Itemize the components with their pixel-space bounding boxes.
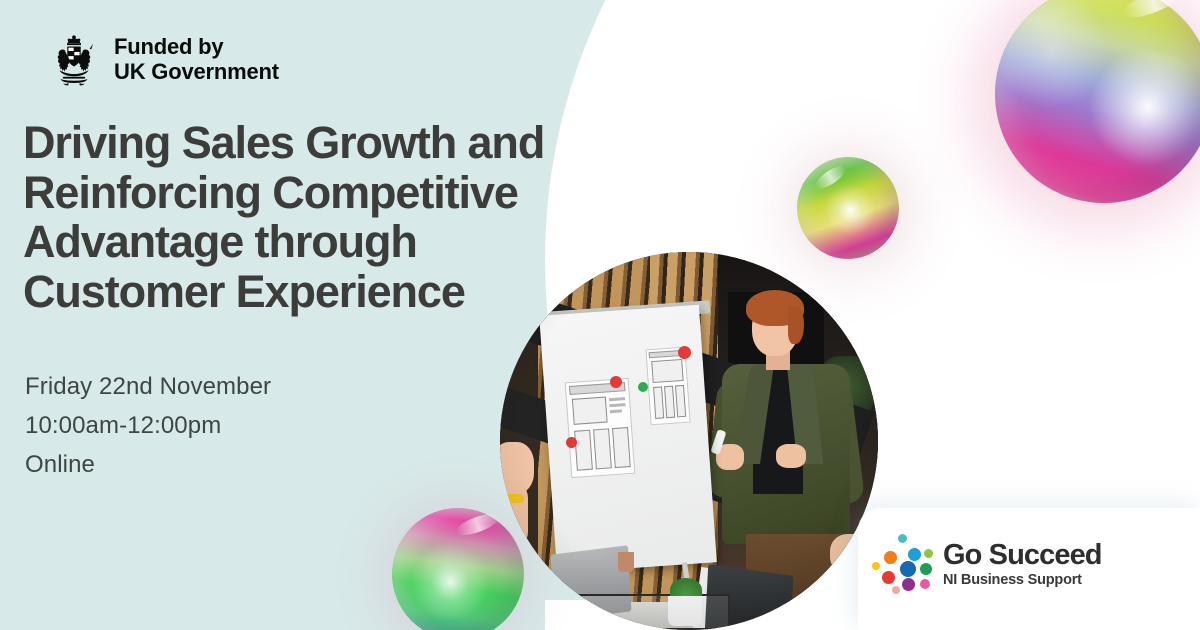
- event-details: Friday 22nd November 10:00am-12:00pm Onl…: [25, 368, 271, 485]
- dot-blue: [908, 548, 921, 561]
- dot-green: [920, 563, 932, 575]
- dot-blush: [892, 586, 900, 594]
- dot-lightgreen: [924, 549, 933, 558]
- brand-title: Go Succeed: [943, 541, 1102, 570]
- dot-darkblue: [900, 561, 916, 577]
- go-succeed-logo-card: Go Succeed NI Business Support: [858, 508, 1200, 630]
- brand-subtitle: NI Business Support: [943, 573, 1102, 588]
- page-title: Driving Sales Growth and Reinforcing Com…: [23, 118, 663, 316]
- dot-yellow: [872, 562, 880, 570]
- event-location: Online: [25, 446, 271, 485]
- dot-red: [882, 571, 895, 584]
- dot-orange: [884, 551, 897, 564]
- event-time: 10:00am-12:00pm: [25, 407, 271, 446]
- go-succeed-dot-cluster-icon: [872, 534, 934, 592]
- funder-label: Funded by UK Government: [114, 35, 279, 84]
- go-succeed-wordmark: Go Succeed NI Business Support: [943, 539, 1102, 588]
- iridescent-orb-medium: [797, 157, 899, 259]
- promo-banner: Funded by UK Government Driving Sales Gr…: [0, 0, 1200, 630]
- go-succeed-lockup: Go Succeed NI Business Support: [872, 534, 1102, 592]
- funder-lockup: Funded by UK Government: [46, 32, 279, 88]
- uk-royal-coat-of-arms-icon: [46, 32, 102, 88]
- dot-teal: [898, 534, 907, 543]
- event-date: Friday 22nd November: [25, 368, 271, 407]
- dot-purple: [902, 578, 915, 591]
- dot-pink: [920, 579, 930, 589]
